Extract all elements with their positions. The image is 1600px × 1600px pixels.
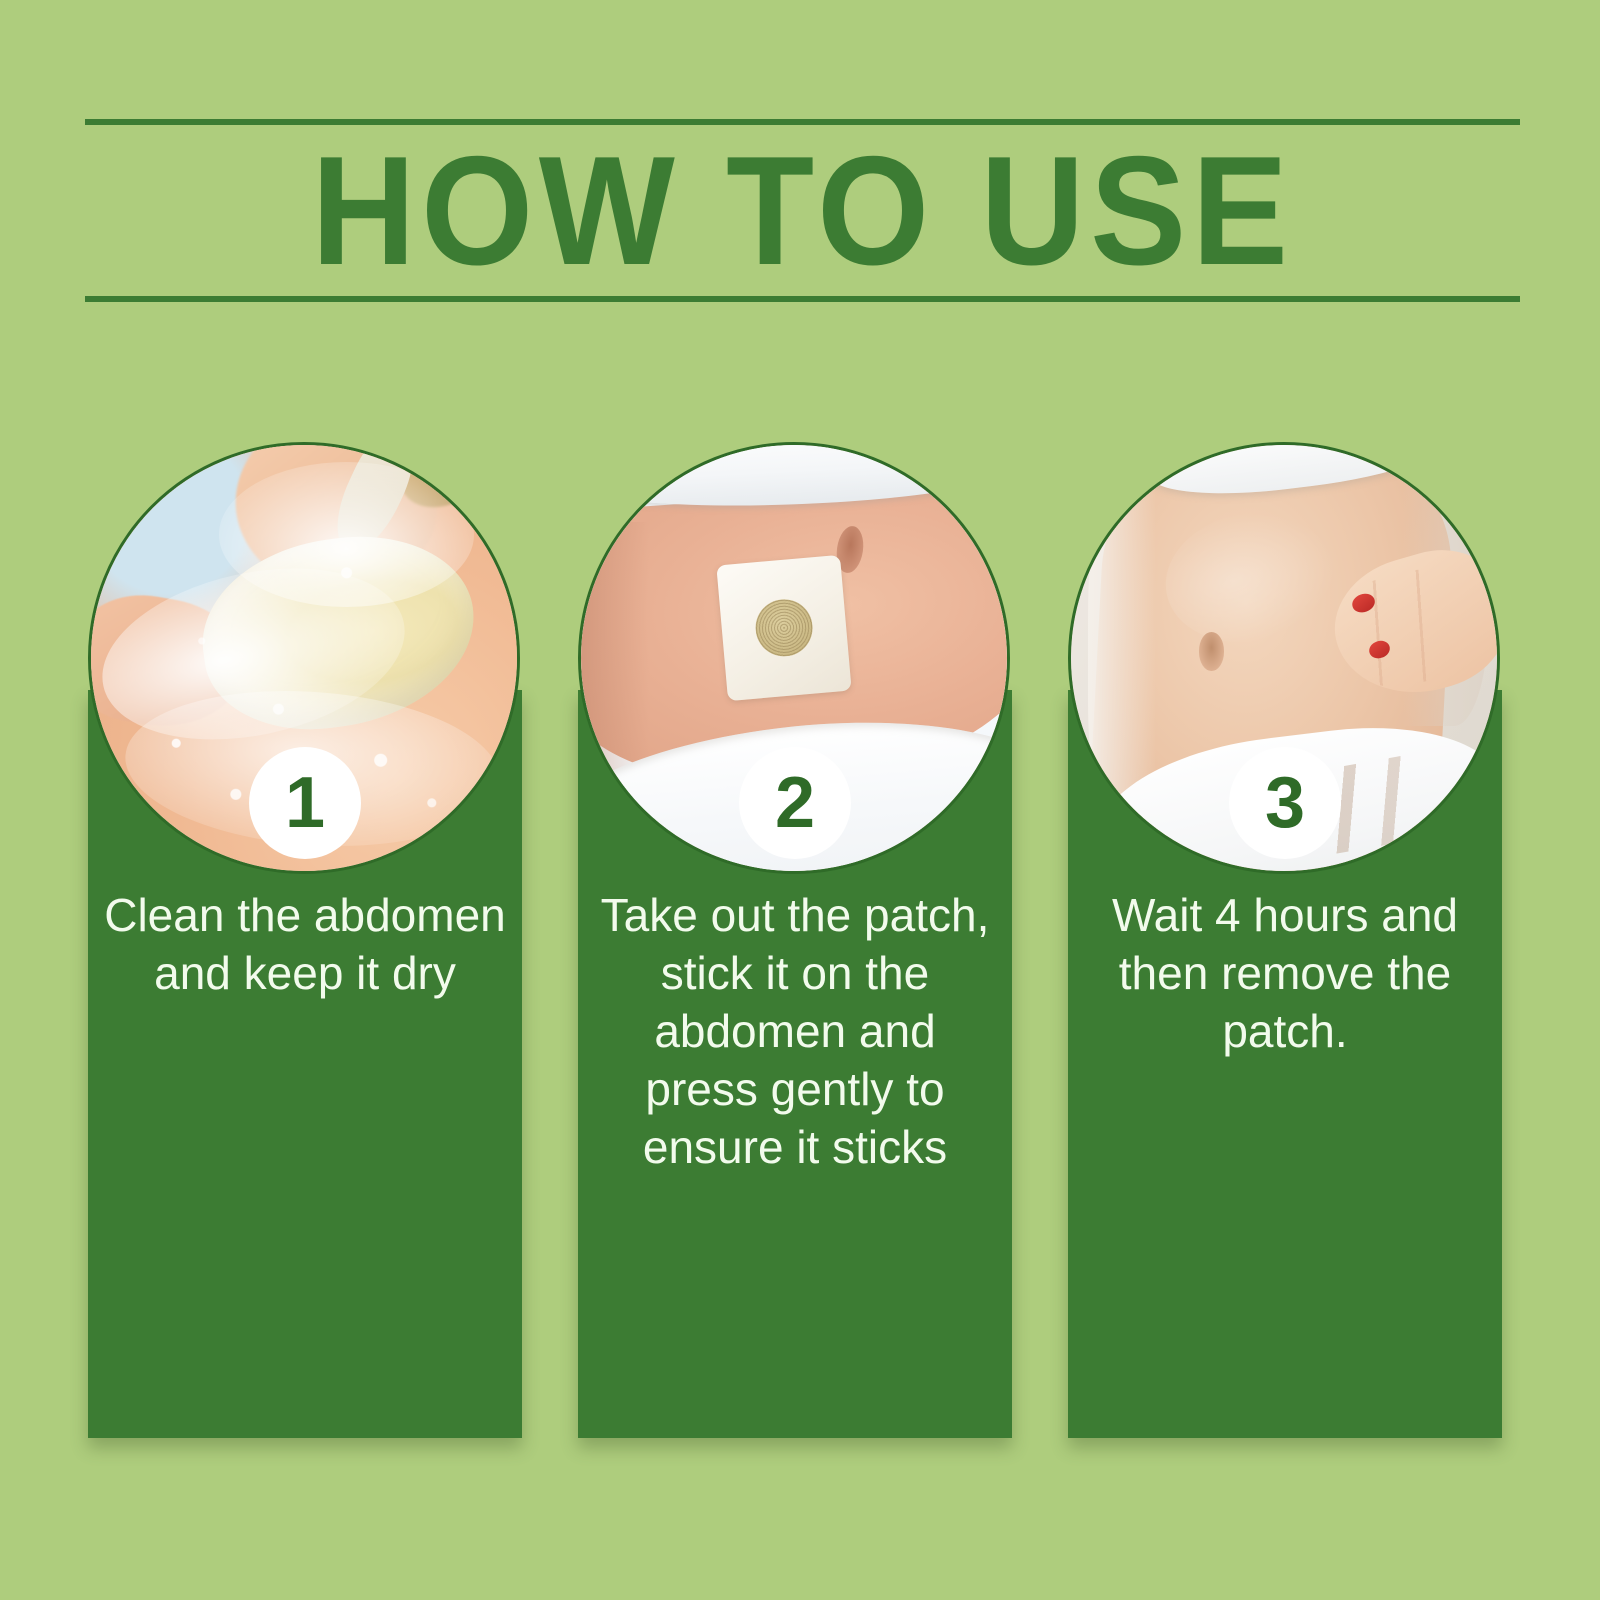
steps-container: 1 Clean the abdomen and keep it dry 2 Ta… [0, 0, 1600, 1600]
step-card-3: 3 Wait 4 hours and then remove the patch… [1068, 690, 1502, 1438]
step-caption-1: Clean the abdomen and keep it dry [102, 886, 508, 1002]
photo-2-side-shadow [581, 522, 649, 778]
step-caption-3: Wait 4 hours and then remove the patch. [1082, 886, 1488, 1060]
step-caption-2: Take out the patch, stick it on the abdo… [592, 886, 998, 1176]
step-badge-3: 3 [1229, 747, 1341, 859]
photo-2-slimming-patch [716, 555, 851, 702]
photo-3-navel [1199, 632, 1225, 670]
step-card-1: 1 Clean the abdomen and keep it dry [88, 690, 522, 1438]
photo-2-patch-core [753, 597, 815, 659]
step-badge-1: 1 [249, 747, 361, 859]
step-card-2: 2 Take out the patch, stick it on the ab… [578, 690, 1012, 1438]
step-badge-2: 2 [739, 747, 851, 859]
